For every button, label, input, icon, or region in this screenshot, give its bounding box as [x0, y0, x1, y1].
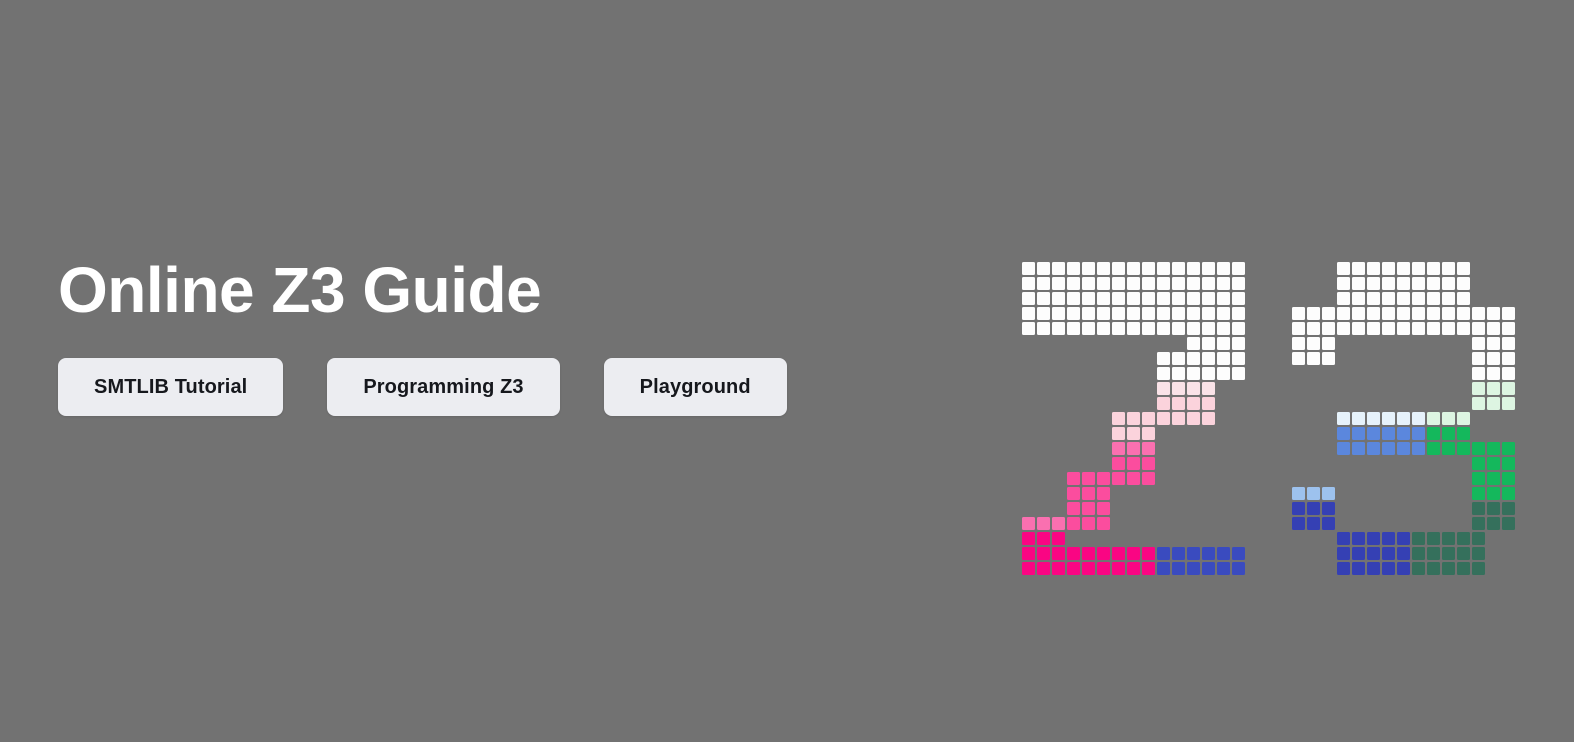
logo-pixel [1142, 547, 1155, 560]
logo-pixel [1127, 277, 1140, 290]
logo-pixel [1397, 562, 1410, 575]
logo-pixel [1307, 502, 1320, 515]
logo-pixel [1337, 262, 1350, 275]
logo-pixel [1457, 262, 1470, 275]
logo-pixel [1217, 367, 1230, 380]
logo-pixel [1502, 337, 1515, 350]
playground-button[interactable]: Playground [604, 358, 787, 416]
logo-pixel [1337, 277, 1350, 290]
logo-pixel [1427, 307, 1440, 320]
logo-pixel [1322, 517, 1335, 530]
logo-pixel [1052, 307, 1065, 320]
logo-pixel [1442, 427, 1455, 440]
logo-pixel [1202, 547, 1215, 560]
logo-pixel [1217, 277, 1230, 290]
logo-pixel [1307, 487, 1320, 500]
logo-pixel [1187, 562, 1200, 575]
logo-pixel [1502, 322, 1515, 335]
logo-pixel [1307, 517, 1320, 530]
logo-pixel [1232, 322, 1245, 335]
logo-pixel [1232, 292, 1245, 305]
logo-pixel [1442, 277, 1455, 290]
logo-pixel [1337, 547, 1350, 560]
logo-pixel [1127, 562, 1140, 575]
logo-pixel [1082, 487, 1095, 500]
logo-pixel [1367, 532, 1380, 545]
logo-pixel [1142, 307, 1155, 320]
logo-pixel [1502, 382, 1515, 395]
logo-pixel [1067, 562, 1080, 575]
logo-pixel [1082, 262, 1095, 275]
logo-pixel [1442, 262, 1455, 275]
smtlib-tutorial-button[interactable]: SMTLIB Tutorial [58, 358, 283, 416]
logo-pixel [1112, 322, 1125, 335]
logo-pixel [1097, 517, 1110, 530]
logo-pixel [1352, 262, 1365, 275]
programming-z3-button[interactable]: Programming Z3 [327, 358, 559, 416]
logo-pixel [1352, 427, 1365, 440]
logo-pixel [1382, 547, 1395, 560]
logo-pixel [1427, 442, 1440, 455]
logo-pixel [1157, 412, 1170, 425]
logo-pixel [1337, 307, 1350, 320]
logo-pixel [1157, 562, 1170, 575]
logo-pixel [1472, 337, 1485, 350]
logo-pixel [1337, 412, 1350, 425]
logo-pixel [1502, 307, 1515, 320]
logo-pixel [1487, 487, 1500, 500]
logo-pixel [1142, 262, 1155, 275]
logo-pixel [1112, 262, 1125, 275]
logo-pixel [1322, 307, 1335, 320]
logo-pixel [1052, 292, 1065, 305]
logo-pixel [1367, 322, 1380, 335]
logo-pixel [1037, 307, 1050, 320]
logo-pixel [1217, 562, 1230, 575]
logo-pixel [1202, 352, 1215, 365]
logo-pixel [1187, 307, 1200, 320]
logo-pixel [1292, 307, 1305, 320]
logo-pixel [1172, 277, 1185, 290]
logo-pixel [1037, 277, 1050, 290]
logo-pixel [1382, 427, 1395, 440]
logo-pixel [1502, 517, 1515, 530]
logo-pixel [1472, 322, 1485, 335]
logo-pixel [1172, 547, 1185, 560]
logo-pixel [1352, 562, 1365, 575]
logo-pixel [1157, 367, 1170, 380]
logo-pixel [1427, 277, 1440, 290]
logo-pixel [1412, 427, 1425, 440]
logo-pixel [1442, 532, 1455, 545]
logo-pixel [1067, 292, 1080, 305]
logo-pixel [1337, 292, 1350, 305]
logo-pixel [1487, 367, 1500, 380]
logo-pixel [1157, 397, 1170, 410]
logo-pixel [1157, 277, 1170, 290]
logo-pixel [1157, 262, 1170, 275]
logo-pixel [1187, 547, 1200, 560]
logo-pixel [1337, 442, 1350, 455]
logo-pixel [1157, 547, 1170, 560]
logo-pixel [1172, 307, 1185, 320]
logo-pixel [1337, 322, 1350, 335]
logo-pixel [1082, 547, 1095, 560]
logo-pixel [1397, 292, 1410, 305]
logo-pixel [1187, 397, 1200, 410]
logo-pixel [1412, 562, 1425, 575]
logo-pixel [1217, 292, 1230, 305]
logo-pixel [1127, 262, 1140, 275]
logo-pixel [1412, 442, 1425, 455]
logo-pixel [1457, 532, 1470, 545]
logo-pixel [1052, 562, 1065, 575]
logo-pixel [1022, 547, 1035, 560]
logo-pixel [1367, 262, 1380, 275]
logo-pixel [1307, 337, 1320, 350]
logo-pixel [1427, 427, 1440, 440]
hero-section: Online Z3 Guide SMTLIB Tutorial Programm… [0, 0, 1574, 742]
logo-pixel [1412, 262, 1425, 275]
logo-pixel [1352, 322, 1365, 335]
logo-pixel [1157, 352, 1170, 365]
logo-pixel [1142, 412, 1155, 425]
logo-pixel [1382, 442, 1395, 455]
logo-pixel [1112, 562, 1125, 575]
logo-pixel [1067, 502, 1080, 515]
logo-pixel [1352, 292, 1365, 305]
logo-pixel [1097, 277, 1110, 290]
logo-pixel [1217, 547, 1230, 560]
logo-pixel [1397, 427, 1410, 440]
logo-pixel [1022, 262, 1035, 275]
logo-pixel [1412, 277, 1425, 290]
logo-pixel [1412, 322, 1425, 335]
logo-pixel [1352, 412, 1365, 425]
logo-pixel [1502, 472, 1515, 485]
logo-pixel [1457, 277, 1470, 290]
logo-pixel [1187, 352, 1200, 365]
logo-pixel [1487, 517, 1500, 530]
logo-pixel [1142, 427, 1155, 440]
logo-pixel [1172, 292, 1185, 305]
logo-pixel [1367, 277, 1380, 290]
logo-pixel [1052, 277, 1065, 290]
logo-pixel [1112, 277, 1125, 290]
logo-pixel [1487, 307, 1500, 320]
logo-pixel [1112, 472, 1125, 485]
logo-pixel [1172, 397, 1185, 410]
logo-pixel [1157, 307, 1170, 320]
logo-pixel [1067, 517, 1080, 530]
logo-pixel [1367, 547, 1380, 560]
logo-pixel [1127, 472, 1140, 485]
logo-pixel [1442, 292, 1455, 305]
logo-pixel [1112, 412, 1125, 425]
logo-pixel [1097, 262, 1110, 275]
logo-pixel [1217, 307, 1230, 320]
logo-pixel [1487, 352, 1500, 365]
logo-pixel [1082, 502, 1095, 515]
logo-pixel [1172, 352, 1185, 365]
logo-pixel [1322, 322, 1335, 335]
logo-pixel [1472, 397, 1485, 410]
logo-pixel [1067, 487, 1080, 500]
logo-pixel [1112, 547, 1125, 560]
logo-pixel [1157, 292, 1170, 305]
logo-pixel [1427, 412, 1440, 425]
logo-pixel [1037, 292, 1050, 305]
logo-pixel [1337, 562, 1350, 575]
logo-pixel [1142, 442, 1155, 455]
logo-pixel [1412, 292, 1425, 305]
logo-pixel [1202, 262, 1215, 275]
logo-pixel [1397, 277, 1410, 290]
logo-pixel [1457, 442, 1470, 455]
logo-pixel [1187, 262, 1200, 275]
logo-pixel [1127, 412, 1140, 425]
logo-pixel [1292, 322, 1305, 335]
logo-pixel [1502, 367, 1515, 380]
logo-pixel [1352, 442, 1365, 455]
logo-pixel [1217, 337, 1230, 350]
logo-pixel [1172, 367, 1185, 380]
logo-pixel [1052, 322, 1065, 335]
logo-pixel [1397, 412, 1410, 425]
logo-pixel [1232, 337, 1245, 350]
logo-pixel [1097, 472, 1110, 485]
logo-pixel [1202, 322, 1215, 335]
logo-pixel [1367, 307, 1380, 320]
logo-pixel [1397, 442, 1410, 455]
logo-pixel [1307, 352, 1320, 365]
logo-pixel [1187, 277, 1200, 290]
logo-pixel [1472, 547, 1485, 560]
logo-pixel [1172, 412, 1185, 425]
logo-pixel [1202, 277, 1215, 290]
logo-pixel [1022, 532, 1035, 545]
logo-pixel [1157, 322, 1170, 335]
logo-pixel [1322, 487, 1335, 500]
logo-pixel [1067, 307, 1080, 320]
logo-pixel [1232, 352, 1245, 365]
logo-pixel [1022, 277, 1035, 290]
logo-pixel [1232, 307, 1245, 320]
logo-pixel [1082, 517, 1095, 530]
logo-pixel [1037, 547, 1050, 560]
logo-glyph-3 [1292, 262, 1517, 577]
logo-pixel [1502, 352, 1515, 365]
logo-pixel [1352, 307, 1365, 320]
logo-pixel [1232, 277, 1245, 290]
logo-pixel [1187, 382, 1200, 395]
logo-pixel [1472, 472, 1485, 485]
logo-pixel [1067, 472, 1080, 485]
logo-pixel [1502, 487, 1515, 500]
logo-pixel [1097, 322, 1110, 335]
logo-pixel [1307, 322, 1320, 335]
logo-pixel [1142, 472, 1155, 485]
logo-pixel [1127, 547, 1140, 560]
logo-pixel [1457, 427, 1470, 440]
logo-pixel [1127, 307, 1140, 320]
logo-pixel [1052, 532, 1065, 545]
logo-pixel [1112, 442, 1125, 455]
logo-pixel [1217, 262, 1230, 275]
logo-pixel [1082, 322, 1095, 335]
logo-pixel [1487, 457, 1500, 470]
logo-pixel [1037, 322, 1050, 335]
logo-pixel [1127, 322, 1140, 335]
logo-pixel [1097, 547, 1110, 560]
logo-pixel [1352, 532, 1365, 545]
logo-pixel [1187, 412, 1200, 425]
logo-pixel [1022, 307, 1035, 320]
logo-pixel [1202, 367, 1215, 380]
logo-pixel [1037, 517, 1050, 530]
logo-pixel [1442, 442, 1455, 455]
logo-pixel [1427, 292, 1440, 305]
logo-pixel [1397, 322, 1410, 335]
logo-pixel [1142, 562, 1155, 575]
logo-pixel [1202, 337, 1215, 350]
logo-pixel [1202, 562, 1215, 575]
logo-pixel [1472, 382, 1485, 395]
logo-pixel [1097, 562, 1110, 575]
logo-pixel [1082, 277, 1095, 290]
logo-pixel [1022, 292, 1035, 305]
logo-pixel [1502, 457, 1515, 470]
logo-pixel [1472, 517, 1485, 530]
logo-pixel [1127, 292, 1140, 305]
logo-pixel [1367, 562, 1380, 575]
logo-pixel [1487, 382, 1500, 395]
logo-pixel [1472, 442, 1485, 455]
logo-pixel [1202, 382, 1215, 395]
logo-pixel [1142, 322, 1155, 335]
logo-pixel [1307, 307, 1320, 320]
logo-pixel [1292, 517, 1305, 530]
logo-pixel [1397, 262, 1410, 275]
logo-pixel [1382, 292, 1395, 305]
logo-pixel [1367, 427, 1380, 440]
logo-pixel [1037, 562, 1050, 575]
logo-pixel [1232, 367, 1245, 380]
logo-pixel [1487, 472, 1500, 485]
logo-pixel [1412, 307, 1425, 320]
logo-pixel [1442, 322, 1455, 335]
logo-pixel [1067, 277, 1080, 290]
logo-pixel [1382, 307, 1395, 320]
logo-pixel [1457, 292, 1470, 305]
logo-pixel [1097, 487, 1110, 500]
page-title: Online Z3 Guide [58, 258, 958, 322]
logo-pixel [1022, 322, 1035, 335]
logo-pixel [1427, 562, 1440, 575]
logo-pixel [1187, 322, 1200, 335]
logo-pixel [1457, 562, 1470, 575]
logo-pixel [1052, 262, 1065, 275]
logo-pixel [1472, 307, 1485, 320]
logo-pixel [1367, 442, 1380, 455]
logo-pixel [1427, 532, 1440, 545]
logo-pixel [1427, 322, 1440, 335]
logo-pixel [1502, 502, 1515, 515]
logo-pixel [1172, 322, 1185, 335]
logo-pixel [1112, 457, 1125, 470]
logo-pixel [1022, 562, 1035, 575]
logo-pixel [1172, 382, 1185, 395]
logo-pixel [1142, 277, 1155, 290]
logo-pixel [1397, 547, 1410, 560]
logo-pixel [1082, 292, 1095, 305]
logo-pixel [1442, 307, 1455, 320]
logo-pixel [1037, 532, 1050, 545]
logo-pixel [1232, 262, 1245, 275]
logo-pixel [1487, 442, 1500, 455]
logo-pixel [1502, 397, 1515, 410]
logo-pixel [1022, 517, 1035, 530]
logo-pixel [1082, 562, 1095, 575]
logo-pixel [1322, 352, 1335, 365]
logo-pixel [1067, 262, 1080, 275]
logo-pixel [1502, 442, 1515, 455]
logo-pixel [1292, 487, 1305, 500]
logo-pixel [1052, 517, 1065, 530]
logo-pixel [1367, 292, 1380, 305]
logo-pixel [1142, 292, 1155, 305]
logo-pixel [1067, 547, 1080, 560]
logo-pixel [1397, 307, 1410, 320]
logo-pixel [1187, 337, 1200, 350]
logo-pixel [1232, 562, 1245, 575]
logo-pixel [1382, 532, 1395, 545]
logo-pixel [1352, 547, 1365, 560]
logo-pixel [1472, 532, 1485, 545]
logo-pixel [1457, 322, 1470, 335]
hero-text-block: Online Z3 Guide SMTLIB Tutorial Programm… [58, 258, 958, 416]
logo-pixel [1472, 352, 1485, 365]
logo-pixel [1052, 547, 1065, 560]
logo-pixel [1472, 367, 1485, 380]
logo-pixel [1472, 487, 1485, 500]
logo-pixel [1082, 307, 1095, 320]
logo-pixel [1367, 412, 1380, 425]
logo-pixel [1457, 307, 1470, 320]
logo-pixel [1187, 292, 1200, 305]
logo-pixel [1127, 442, 1140, 455]
logo-pixel [1202, 412, 1215, 425]
logo-pixel [1097, 292, 1110, 305]
logo-pixel [1202, 292, 1215, 305]
logo-pixel [1382, 562, 1395, 575]
logo-pixel [1472, 562, 1485, 575]
logo-pixel [1217, 322, 1230, 335]
logo-pixel [1382, 277, 1395, 290]
logo-pixel [1112, 427, 1125, 440]
logo-pixel [1202, 397, 1215, 410]
logo-pixel [1292, 502, 1305, 515]
logo-pixel [1142, 457, 1155, 470]
logo-pixel [1487, 502, 1500, 515]
logo-pixel [1067, 322, 1080, 335]
logo-pixel [1487, 397, 1500, 410]
logo-pixel [1382, 412, 1395, 425]
logo-pixel [1337, 532, 1350, 545]
logo-pixel [1442, 562, 1455, 575]
logo-glyph-z [1022, 262, 1247, 577]
logo-pixel [1322, 337, 1335, 350]
